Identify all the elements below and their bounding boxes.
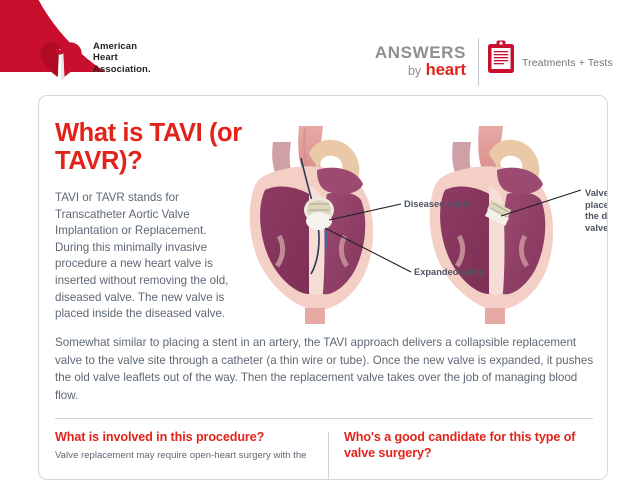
content-card: What is TAVI (or TAVR)? TAVI or TAVR sta… [38, 95, 608, 480]
answers-by-heart-lockup: ANSWERS by heart [366, 44, 466, 80]
heart-illustration-figure: Diseased valve Expanded valve Valve in p… [229, 124, 608, 329]
question-column-left: What is involved in this procedure? Valv… [55, 430, 317, 462]
aha-logo[interactable]: American Heart Association. [38, 36, 151, 80]
callout-diseased-valve: Diseased valve [404, 199, 471, 211]
second-paragraph: Somewhat similar to placing a stent in a… [55, 334, 595, 404]
logo-line-american: American [93, 41, 151, 52]
callout-leader-lines [229, 124, 608, 329]
by-word: by [408, 64, 421, 78]
page-header: American Heart Association. ANSWERS by h… [0, 0, 625, 95]
logo-line-heart: Heart [93, 52, 151, 63]
callout-valve-in-place: Valve in place within the diseased valve [585, 188, 608, 234]
heart-word: heart [426, 61, 466, 79]
question-heading-candidate: Who's a good candidate for this type of … [344, 430, 594, 461]
by-heart-line: by heart [366, 61, 466, 80]
question-heading-procedure: What is involved in this procedure? [55, 430, 317, 446]
question-column-right: Who's a good candidate for this type of … [344, 430, 594, 464]
aha-logo-text: American Heart Association. [93, 41, 151, 75]
heart-torch-icon [38, 36, 84, 80]
intro-paragraph: TAVI or TAVR stands for Transcatheter Ao… [55, 190, 237, 323]
question-body-procedure: Valve replacement may require open-heart… [55, 449, 317, 462]
logo-line-association: Association. [93, 64, 151, 75]
clipboard-icon [487, 40, 515, 79]
topic-label: Treatments + Tests [522, 57, 613, 69]
callout-expanded-valve: Expanded valve [414, 267, 484, 279]
column-divider [328, 432, 329, 480]
header-divider [478, 38, 479, 86]
section-divider-rule [55, 418, 593, 419]
answers-word: ANSWERS [366, 44, 466, 61]
